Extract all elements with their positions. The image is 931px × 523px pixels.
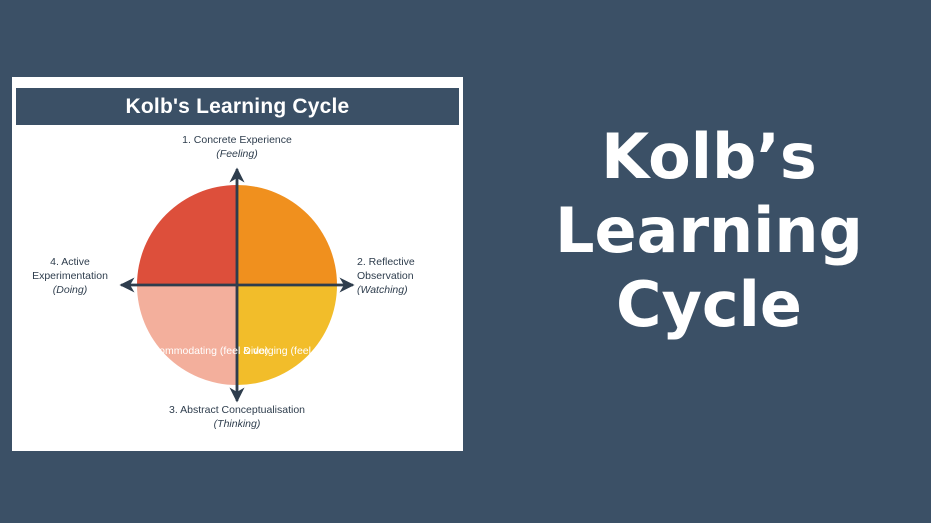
axis-label-concrete-experience: 1. Concrete Experience (Feeling) — [137, 133, 337, 161]
axis-left-main2: Experimentation — [18, 269, 122, 283]
slide-root: Kolb's Learning Cycle — [0, 0, 931, 523]
axis-right-sub: (Watching) — [357, 283, 461, 297]
axis-left-sub: (Doing) — [18, 283, 122, 297]
axis-right-main2: Observation — [357, 269, 461, 283]
diagram-card: Kolb's Learning Cycle — [12, 77, 463, 451]
axis-top-sub: (Feeling) — [137, 147, 337, 161]
diagram-header-bar: Kolb's Learning Cycle — [16, 88, 459, 125]
axis-top-main: 1. Concrete Experience — [137, 133, 337, 147]
slide-title-line-2: Learning — [487, 194, 931, 268]
axis-label-active-experimentation: 4. Active Experimentation (Doing) — [18, 255, 122, 297]
diagram-body: Accommodating (feel & do) Diverging (fee… — [12, 125, 463, 451]
diagram-title: Kolb's Learning Cycle — [126, 95, 350, 119]
axis-left-main: 4. Active — [18, 255, 122, 269]
axis-bottom-sub: (Thinking) — [122, 417, 352, 431]
axis-label-abstract-conceptualisation: 3. Abstract Conceptualisation (Thinking) — [122, 403, 352, 431]
slide-title: Kolb’s Learning Cycle — [487, 120, 931, 342]
axis-right-main: 2. Reflective — [357, 255, 461, 269]
slide-title-line-1: Kolb’s — [487, 120, 931, 194]
axis-label-reflective-observation: 2. Reflective Observation (Watching) — [357, 255, 461, 297]
axis-bottom-main: 3. Abstract Conceptualisation — [122, 403, 352, 417]
slide-title-line-3: Cycle — [487, 268, 931, 342]
